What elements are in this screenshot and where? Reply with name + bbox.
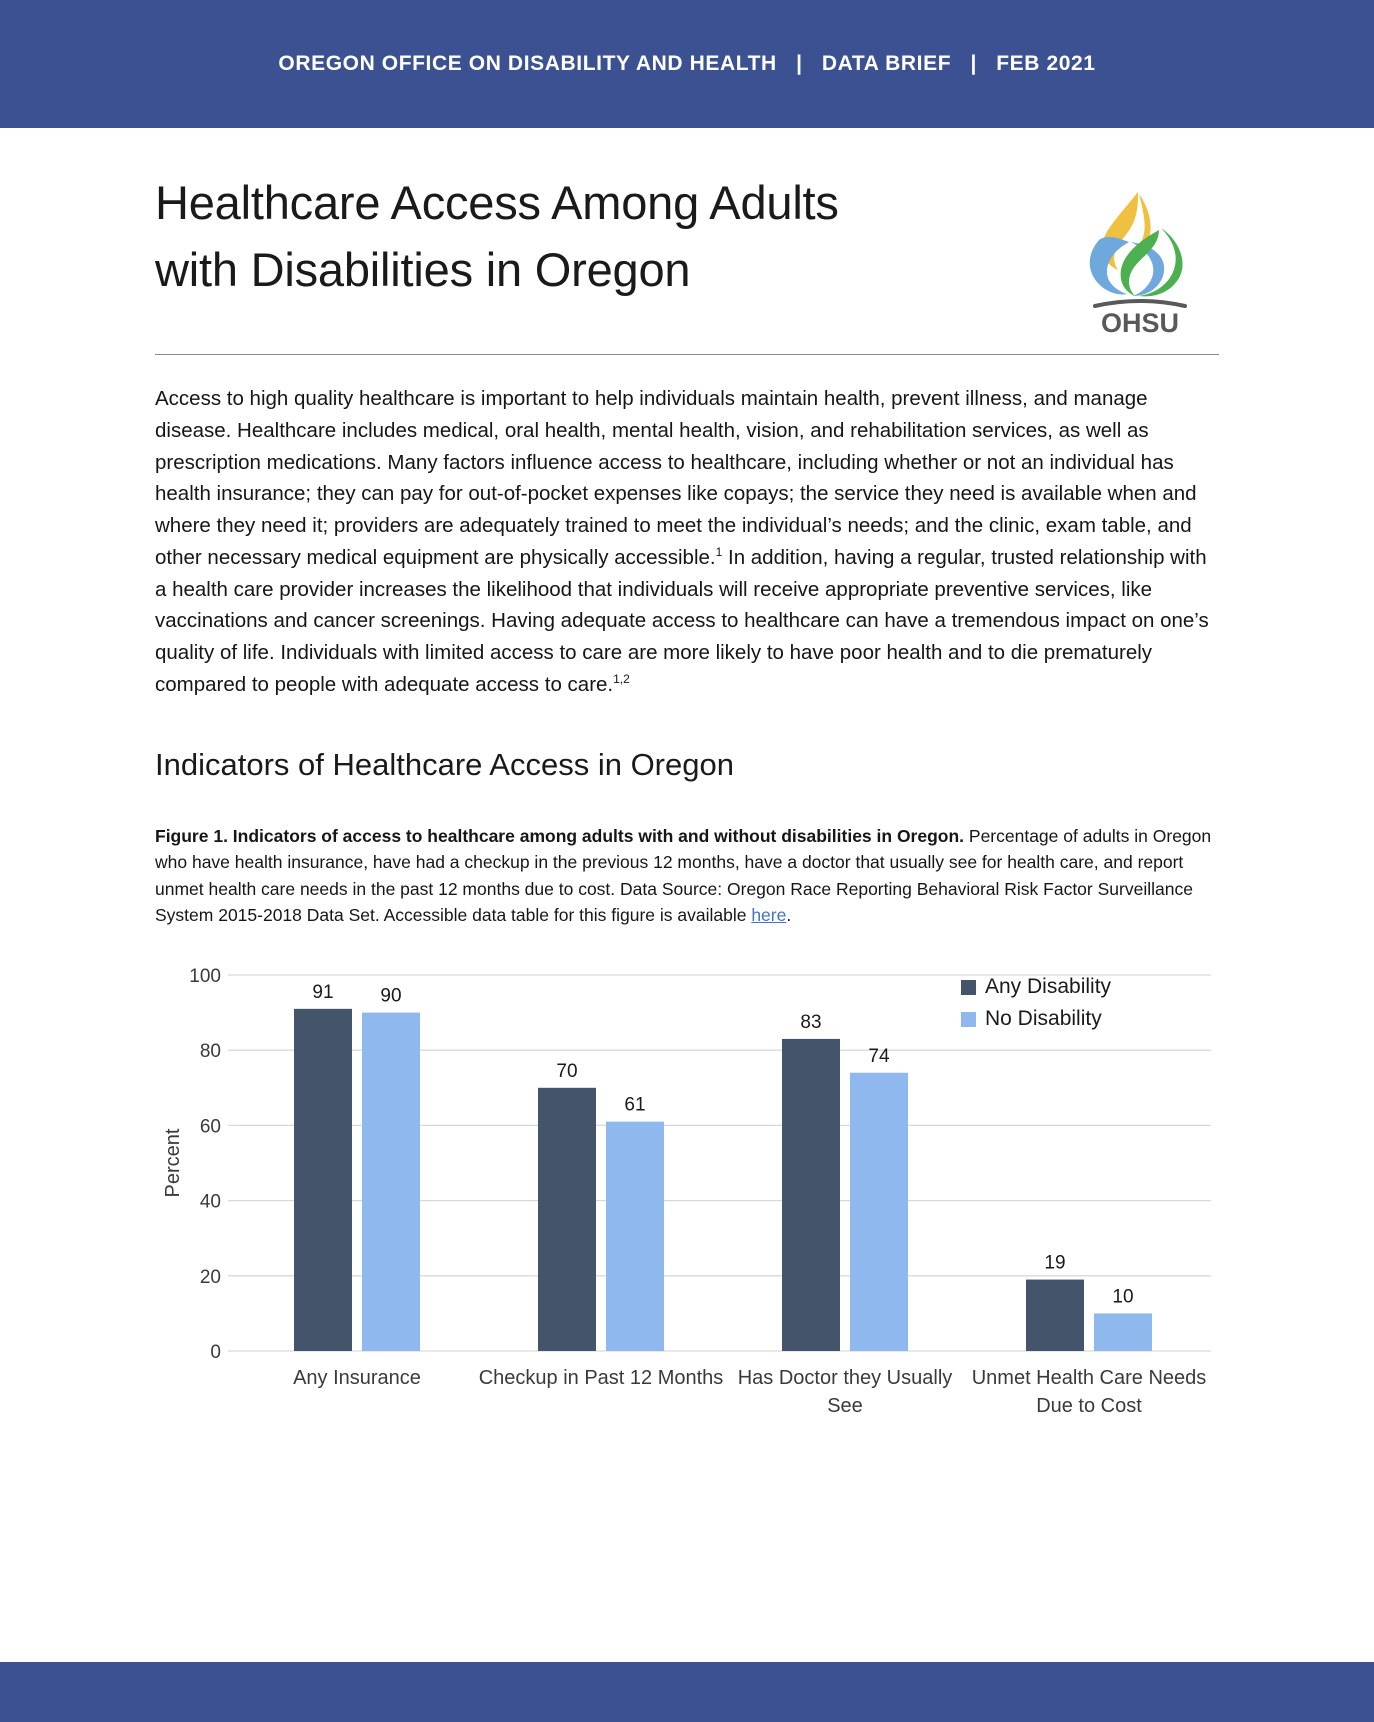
bar-value-label: 10 — [1112, 1286, 1133, 1307]
figure-caption: Figure 1. Indicators of access to health… — [155, 823, 1219, 929]
page-header-band: OREGON OFFICE ON DISABILITY AND HEALTH |… — [0, 0, 1374, 128]
page-content: Healthcare Access Among Adults with Disa… — [0, 128, 1374, 1650]
bar — [294, 1009, 352, 1351]
bar — [1026, 1280, 1084, 1351]
x-axis-category-label: Any Insurance — [293, 1367, 421, 1389]
title-divider — [155, 354, 1219, 355]
bar-value-label: 74 — [868, 1046, 890, 1067]
x-axis-category-label: Unmet Health Care Needs — [972, 1367, 1207, 1389]
figure-1-chart: 020406080100Percent9190Any Insurance7061… — [155, 963, 1219, 1433]
header-title: OREGON OFFICE ON DISABILITY AND HEALTH |… — [278, 52, 1095, 76]
logo-base-curve — [1095, 301, 1185, 306]
reference-marker-2: 1,2 — [613, 672, 630, 686]
legend-label: Any Disability — [985, 975, 1112, 998]
bar — [538, 1088, 596, 1351]
x-axis-category-label: See — [827, 1395, 863, 1417]
page-title-line1: Healthcare Access Among Adults — [155, 170, 839, 237]
bar-value-label: 70 — [556, 1061, 577, 1082]
page-title-line2: with Disabilities in Oregon — [155, 237, 839, 304]
bar — [362, 1013, 420, 1351]
bar — [850, 1073, 908, 1351]
section-heading: Indicators of Healthcare Access in Orego… — [155, 747, 1219, 783]
y-axis-tick-label: 60 — [200, 1116, 221, 1137]
y-axis-tick-label: 20 — [200, 1267, 221, 1288]
y-axis-tick-label: 0 — [210, 1342, 221, 1363]
legend-label: No Disability — [985, 1007, 1102, 1030]
figure-caption-tail: . — [786, 905, 791, 925]
y-axis-tick-label: 40 — [200, 1192, 221, 1213]
bar — [606, 1122, 664, 1351]
page-footer-band — [0, 1662, 1374, 1722]
bar-value-label: 19 — [1044, 1253, 1065, 1274]
bar — [1094, 1313, 1152, 1351]
figure-caption-lead: Figure 1. Indicators of access to health… — [155, 826, 964, 846]
bar-value-label: 83 — [800, 1012, 821, 1033]
page-title: Healthcare Access Among Adults with Disa… — [155, 170, 839, 303]
x-axis-category-label: Has Doctor they Usually — [738, 1367, 953, 1389]
bar-chart: 020406080100Percent9190Any Insurance7061… — [155, 963, 1219, 1433]
bar-value-label: 90 — [380, 986, 401, 1007]
x-axis-category-label: Due to Cost — [1036, 1395, 1142, 1417]
y-axis-label: Percent — [162, 1128, 184, 1197]
bar-value-label: 91 — [312, 982, 333, 1003]
title-row: Healthcare Access Among Adults with Disa… — [155, 128, 1219, 334]
y-axis-tick-label: 100 — [189, 966, 221, 987]
legend-swatch — [961, 980, 976, 995]
x-axis-category-label: Checkup in Past 12 Months — [479, 1367, 724, 1389]
intro-paragraph: Access to high quality healthcare is imp… — [155, 383, 1219, 701]
bar — [782, 1039, 840, 1351]
bar-value-label: 61 — [624, 1095, 645, 1116]
logo-wordmark: OHSU — [1101, 308, 1179, 334]
y-axis-tick-label: 80 — [200, 1041, 221, 1062]
legend-swatch — [961, 1012, 976, 1027]
accessible-data-table-link[interactable]: here — [751, 905, 786, 925]
intro-text-1: Access to high quality healthcare is imp… — [155, 387, 1197, 569]
ohsu-logo: OHSU — [1075, 184, 1205, 334]
